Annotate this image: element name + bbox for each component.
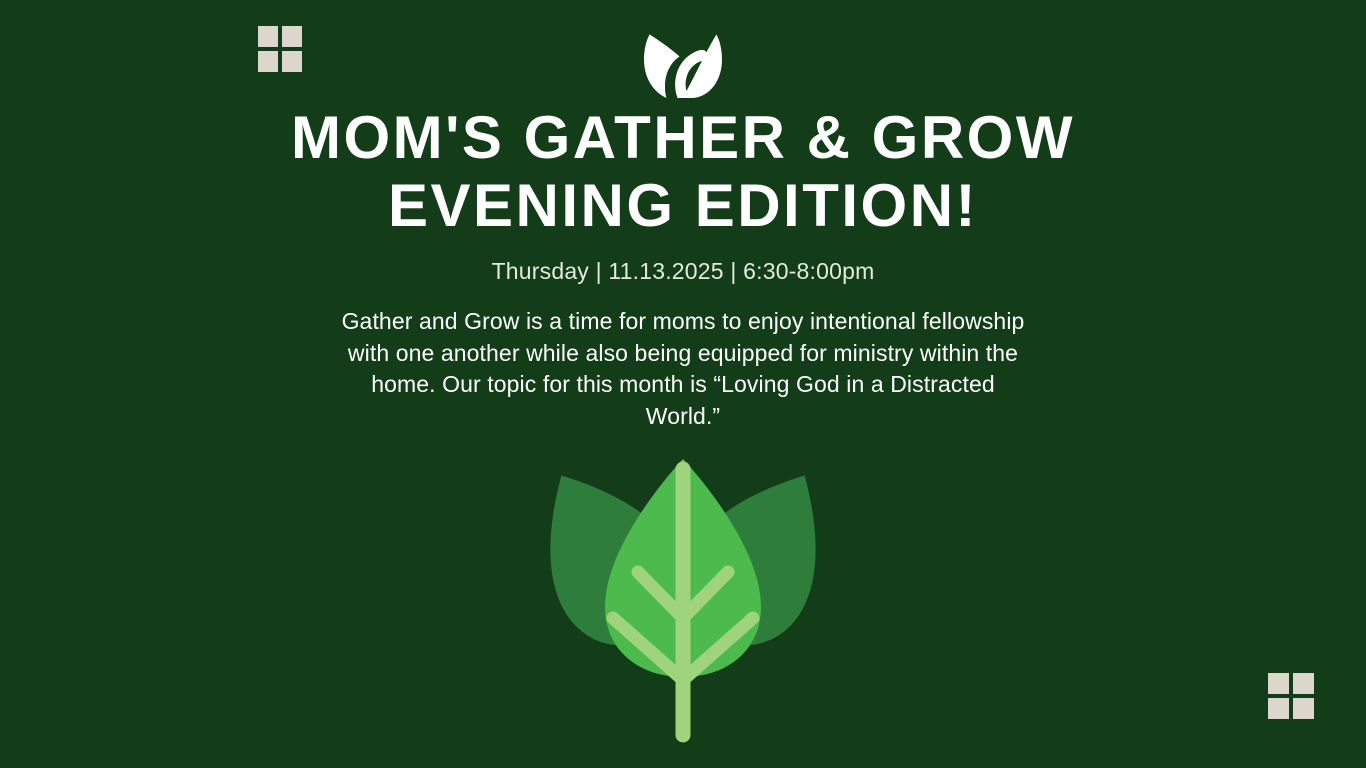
logo-container	[0, 26, 1366, 98]
bottom-right-grid-decoration	[1268, 673, 1314, 719]
content-block: MOM'S GATHER & GROW EVENING EDITION! Thu…	[0, 104, 1366, 432]
grid-cell	[1293, 673, 1314, 694]
event-description: Gather and Grow is a time for moms to en…	[333, 306, 1033, 432]
title-line-1: MOM'S GATHER & GROW	[120, 104, 1246, 172]
large-leaf-illustration	[533, 455, 833, 745]
title-line-2: EVENING EDITION!	[120, 172, 1246, 240]
grid-cell	[1293, 698, 1314, 719]
event-date-time: Thursday | 11.13.2025 | 6:30-8:00pm	[0, 256, 1366, 286]
two-leaves-logo	[641, 26, 725, 98]
slide-canvas: MOM'S GATHER & GROW EVENING EDITION! Thu…	[0, 0, 1366, 768]
grid-cell	[1268, 673, 1289, 694]
grid-cell	[1268, 698, 1289, 719]
page-title: MOM'S GATHER & GROW EVENING EDITION!	[0, 104, 1366, 240]
leaf-graphic	[533, 455, 833, 745]
